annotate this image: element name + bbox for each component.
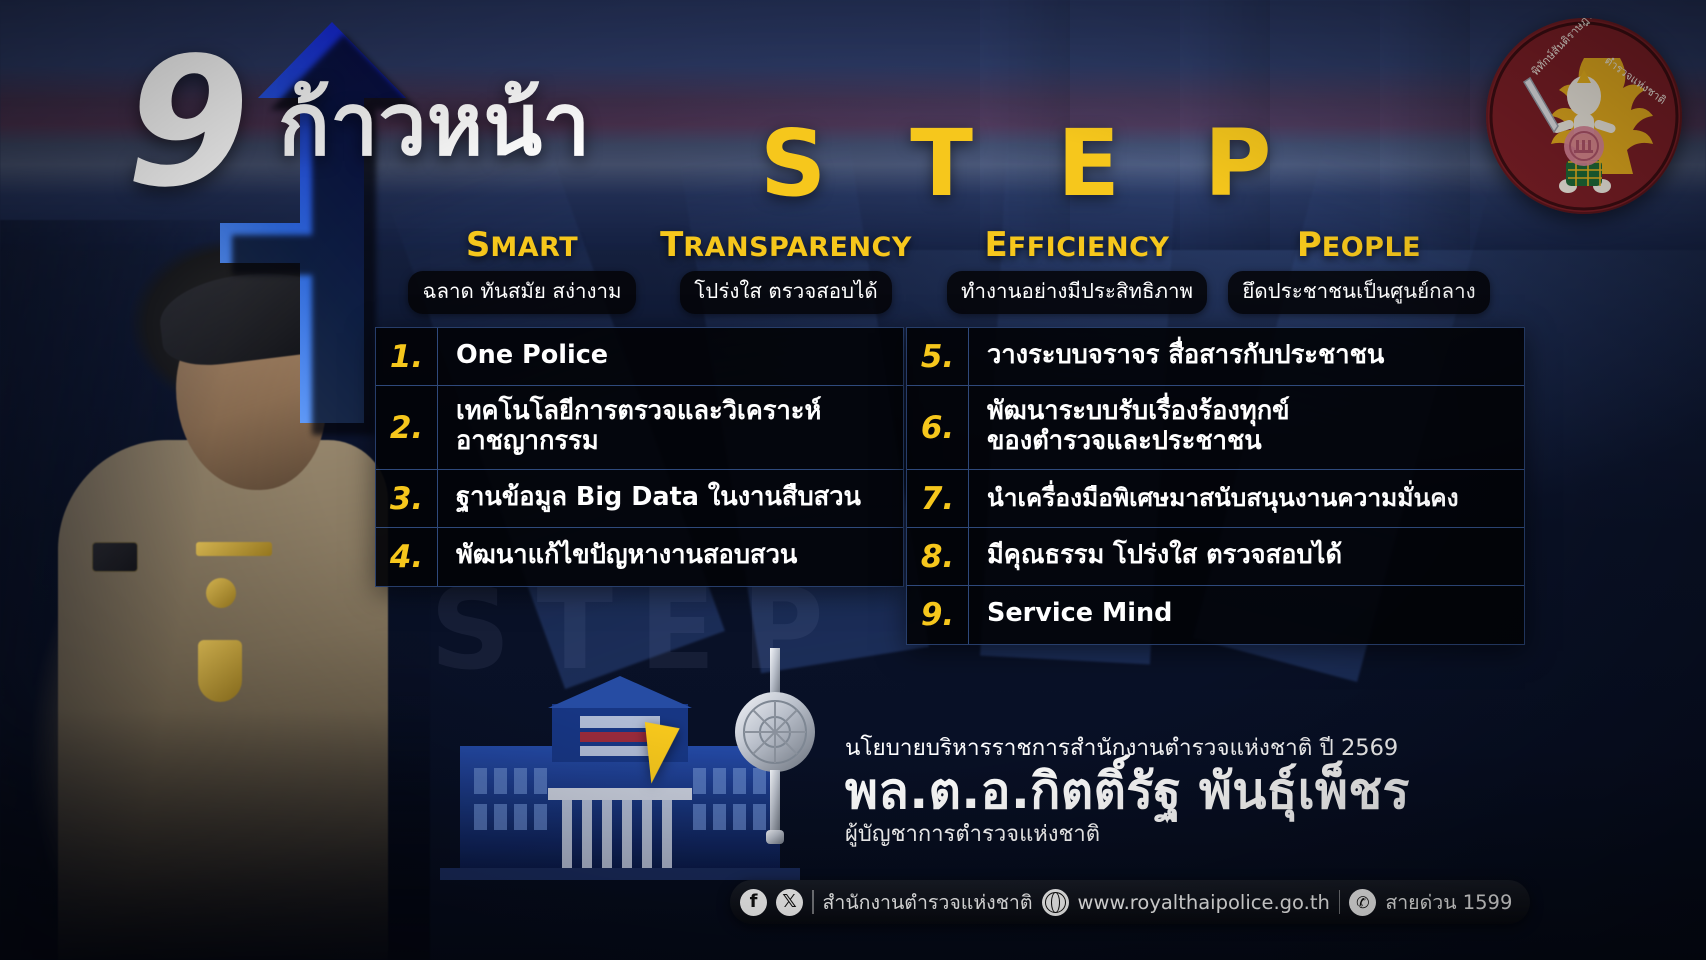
row-label: พัฒนาแก้ไขปัญหางานสอบสวน (438, 532, 903, 581)
footer-org-name: สำนักงานตำรวจแห่งชาติ (823, 887, 1033, 918)
step-pillars: SMART ฉลาด ทันสมัย สง่างาม TRANSPARENCY … (392, 228, 1502, 318)
row-label: Service Mind (969, 590, 1524, 639)
row-label: ฐานข้อมูล Big Data ในงานสืบสวน (438, 474, 903, 523)
pillar-transparency: TRANSPARENCY โปร่งใส ตรวจสอบได้ (636, 228, 936, 314)
pillar-efficiency-subtitle: ทำงานอย่างมีประสิทธิภาพ (947, 271, 1207, 314)
row-label: วางระบบจราจร สื่อสารกับประชาชน (969, 332, 1524, 381)
row-label: มีคุณธรรม โปร่งใส ตรวจสอบได้ (969, 532, 1524, 581)
phone-icon: ✆ (1349, 889, 1376, 916)
footer-contact-bar: f 𝕏 สำนักงานตำรวจแห่งชาติ www.royalthaip… (730, 880, 1530, 924)
table-row: 1. One Police (376, 328, 903, 386)
pillar-people-rest: EOPLE (1322, 232, 1421, 263)
pillar-efficiency-cap: E (985, 225, 1008, 265)
footer-website[interactable]: www.royalthaipolice.go.th (1078, 891, 1330, 914)
table-row: 6. พัฒนาระบบรับเรื่องร้องทุกข์ ของตำรวจแ… (907, 386, 1524, 470)
commissioner-name: พล.ต.อ.กิตติ์รัฐ พันธุ์เพ็ชร (845, 762, 1505, 821)
ceremonial-baton-icon (716, 648, 834, 848)
policy-list-right: 5. วางระบบจราจร สื่อสารกับประชาชน 6. พัฒ… (906, 327, 1525, 645)
x-twitter-icon[interactable]: 𝕏 (776, 889, 803, 916)
big-number-nine: 9 (126, 34, 244, 212)
row-number: 4. (376, 528, 438, 586)
table-row: 3. ฐานข้อมูล Big Data ในงานสืบสวน (376, 470, 903, 528)
yellow-wedge-accent (645, 718, 685, 783)
table-row: 4. พัฒนาแก้ไขปัญหางานสอบสวน (376, 528, 903, 586)
row-number: 2. (376, 386, 438, 469)
row-label: เทคโนโลยีการตรวจและวิเคราะห์ อาชญากรรม (438, 388, 903, 466)
pillar-smart-rest: MART (490, 232, 578, 263)
emblem-artwork: พิทักษ์สันติราษฎร์ ตำรวจแห่งชาติ (1486, 18, 1682, 214)
table-row: 9. Service Mind (907, 586, 1524, 644)
poster-root: STEP (0, 0, 1706, 960)
row-label: One Police (438, 332, 903, 381)
pillar-efficiency-rest: FFICIENCY (1008, 232, 1170, 263)
pillar-efficiency-title: EFFICIENCY (936, 228, 1218, 262)
pillar-people: PEOPLE ยึดประชาชนเป็นศูนย์กลาง (1216, 228, 1502, 314)
row-number: 1. (376, 328, 438, 385)
step-acronym-title: S T E P (760, 118, 1297, 210)
commissioner-position: ผู้บัญชาการตำรวจแห่งชาติ (845, 821, 1505, 849)
pillar-people-title: PEOPLE (1216, 228, 1502, 262)
facebook-icon[interactable]: f (740, 889, 767, 916)
pillar-smart-title: SMART (392, 228, 652, 262)
pillar-smart-subtitle: ฉลาด ทันสมัย สง่างาม (408, 271, 635, 314)
table-row: 2. เทคโนโลยีการตรวจและวิเคราะห์ อาชญากรร… (376, 386, 903, 470)
pillar-smart-cap: S (466, 225, 491, 265)
row-label: นำเครื่องมือพิเศษมาสนับสนุนงานความมั่นคง (969, 475, 1524, 523)
row-number: 8. (907, 528, 969, 585)
pillar-transparency-title: TRANSPARENCY (636, 228, 936, 262)
pillar-people-cap: P (1297, 225, 1322, 265)
table-row: 5. วางระบบจราจร สื่อสารกับประชาชน (907, 328, 1524, 386)
pillar-people-subtitle: ยึดประชาชนเป็นศูนย์กลาง (1228, 271, 1489, 314)
thai-headline: ก้าวหน้า (278, 82, 590, 168)
pillar-transparency-cap: T (660, 225, 683, 265)
policy-list-left: 1. One Police 2. เทคโนโลยีการตรวจและวิเค… (375, 327, 904, 587)
divider (812, 890, 814, 914)
row-number: 6. (907, 386, 969, 469)
table-row: 8. มีคุณธรรม โปร่งใส ตรวจสอบได้ (907, 528, 1524, 586)
royal-thai-police-emblem: พิทักษ์สันติราษฎร์ ตำรวจแห่งชาติ (1486, 18, 1682, 214)
footer-hotline: สายด่วน 1599 (1385, 887, 1512, 918)
globe-icon (1042, 889, 1069, 916)
row-number: 3. (376, 470, 438, 527)
pillar-transparency-subtitle: โปร่งใส ตรวจสอบได้ (680, 271, 891, 314)
pillar-transparency-rest: RANSPARENCY (683, 232, 912, 263)
row-label: พัฒนาระบบรับเรื่องร้องทุกข์ ของตำรวจและป… (969, 388, 1524, 466)
policy-year-line: นโยบายบริหารราชการสำนักงานตำรวจแห่งชาติ … (845, 735, 1505, 762)
pillar-efficiency: EFFICIENCY ทำงานอย่างมีประสิทธิภาพ (936, 228, 1218, 314)
pillar-smart: SMART ฉลาด ทันสมัย สง่างาม (392, 228, 652, 314)
table-row: 7. นำเครื่องมือพิเศษมาสนับสนุนงานความมั่… (907, 470, 1524, 528)
divider (1339, 890, 1341, 914)
row-number: 9. (907, 586, 969, 644)
row-number: 5. (907, 328, 969, 385)
row-number: 7. (907, 470, 969, 527)
signature-block: นโยบายบริหารราชการสำนักงานตำรวจแห่งชาติ … (845, 735, 1505, 849)
